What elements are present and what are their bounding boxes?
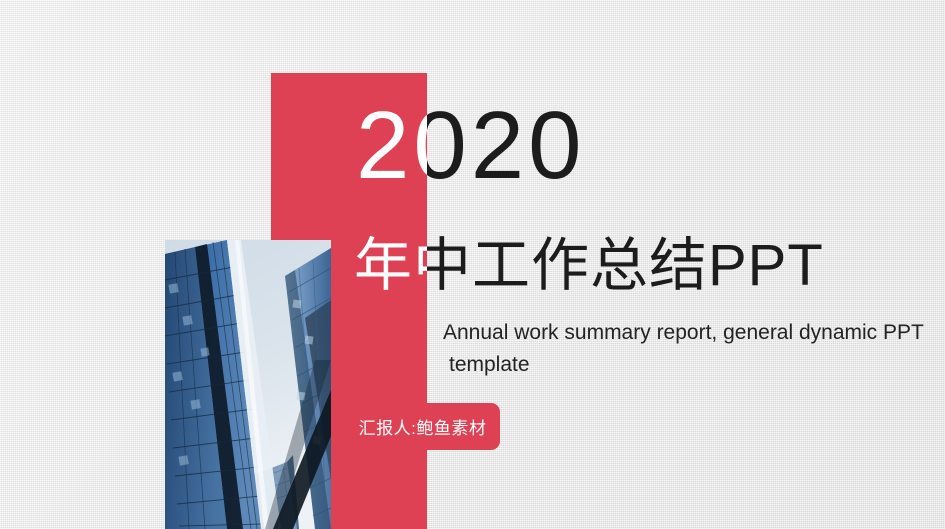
- presenter-badge-label: 汇报人:鲍鱼素材: [359, 414, 487, 439]
- subtitle: Annual work summary report, general dyna…: [443, 317, 945, 380]
- skyscraper-photo: [165, 240, 331, 529]
- presenter-badge[interactable]: 汇报人:鲍鱼素材: [345, 403, 500, 450]
- subtitle-line-2: template: [443, 349, 945, 381]
- presentation-title-slide: 2020 年中工作总结PPT 2020 年中工作总结PPT Annual wor…: [0, 0, 945, 529]
- skyscraper-photo-graphic: [165, 240, 331, 529]
- subtitle-line-1: Annual work summary report, general dyna…: [443, 321, 924, 344]
